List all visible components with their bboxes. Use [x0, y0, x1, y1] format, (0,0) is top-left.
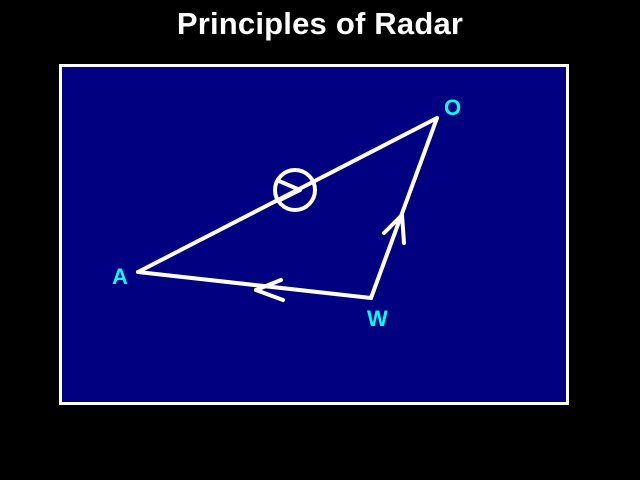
radar-geometry-panel — [59, 64, 569, 405]
vertex-label-w: W — [367, 308, 388, 330]
vertex-label-o: O — [444, 97, 461, 119]
slide-canvas: Principles of Radar O A W — [0, 0, 640, 480]
vertex-label-a: A — [112, 266, 128, 288]
page-title: Principles of Radar — [0, 6, 640, 42]
